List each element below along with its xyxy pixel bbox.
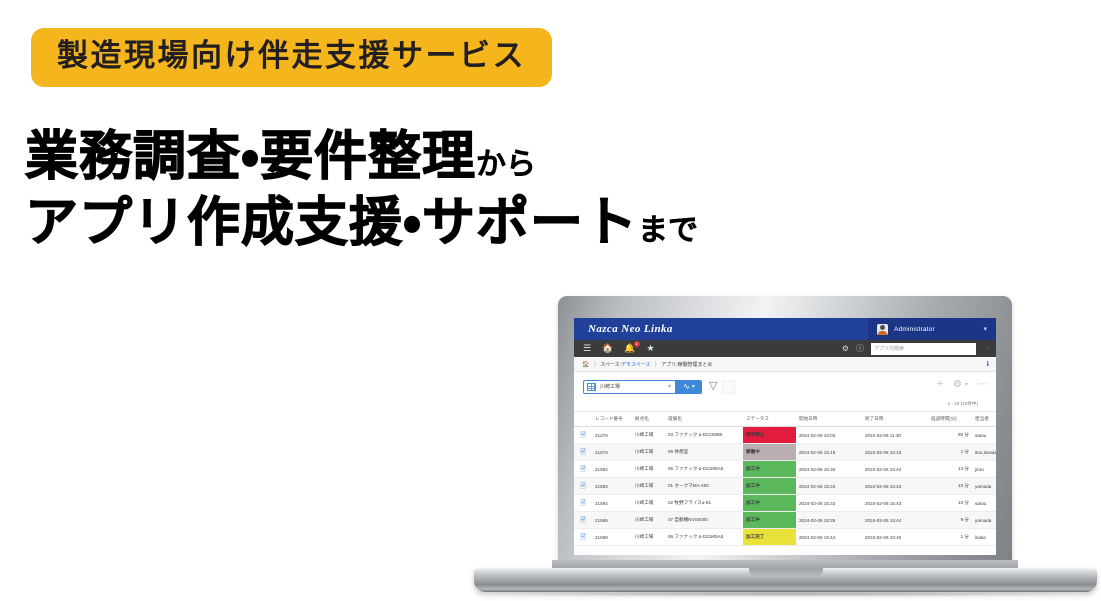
cell-owner: isaka bbox=[972, 529, 996, 546]
table-row[interactable]: 🗎21595川崎工場07 自動機NVS5000加工中2024-02-06 15:… bbox=[574, 512, 996, 529]
cell-start-datetime: 2024-02-06 15:44 bbox=[796, 529, 862, 546]
chevron-down-icon[interactable]: ▾ bbox=[692, 383, 695, 390]
document-icon[interactable]: 🗎 bbox=[574, 529, 592, 546]
breadcrumb-space-name[interactable]: デモスペース bbox=[621, 362, 650, 368]
status-badge: 異常停止 bbox=[743, 427, 796, 444]
ellipsis-icon[interactable]: ⋯ bbox=[978, 380, 989, 390]
status-badge: 加工中 bbox=[743, 512, 796, 529]
col-end-datetime[interactable]: 終了日時 bbox=[862, 412, 928, 427]
cell-equipment-name: 01 オークマMA-400 bbox=[665, 478, 743, 495]
record-pager: 1 - 10 (10件中) bbox=[574, 401, 996, 411]
table-row[interactable]: 🗎21596川崎工場06 ファナック α-D21M5A5加工完了2024-02-… bbox=[574, 529, 996, 546]
document-icon[interactable]: 🗎 bbox=[574, 478, 592, 495]
service-badge: 製造現場向け伴走支援サービス bbox=[31, 28, 552, 87]
chevron-down-icon[interactable]: ▾ bbox=[965, 381, 968, 388]
headline-line-1-suffix: から bbox=[476, 148, 536, 181]
toolbar-right-group: + ⚙ ▾ ⋯ bbox=[937, 379, 989, 390]
document-icon[interactable]: 🗎 bbox=[574, 495, 592, 512]
breadcrumb-app-name: 稼働管理まとめ bbox=[678, 362, 713, 368]
breadcrumb: 🏠 ⟩ スペース:デモスペース ⟩ アプリ:稼働管理まとめ ℹ bbox=[574, 357, 996, 372]
cell-owner: yamada bbox=[972, 512, 996, 529]
col-doc bbox=[574, 412, 592, 427]
cell-site-name: 川崎工場 bbox=[632, 478, 665, 495]
cell-end-datetime: 2024-02-06 15:43 bbox=[862, 495, 928, 512]
cell-equipment-name: 06 ファナック α-D21M5A5 bbox=[665, 529, 743, 546]
plus-icon[interactable]: + bbox=[937, 379, 943, 390]
status-badge: 稼働中 bbox=[743, 444, 796, 461]
headline-line-2: アプリ作成支援・サポートまで bbox=[25, 196, 698, 250]
cell-site-name: 川崎工場 bbox=[632, 427, 665, 444]
search-input[interactable]: アプリ内検索 bbox=[871, 343, 976, 355]
cell-equipment-name: 09 休憩室 bbox=[665, 444, 743, 461]
cell-end-datetime: 2024-02-06 11:30 bbox=[862, 427, 928, 444]
col-site-name[interactable]: 拠点名 bbox=[632, 412, 665, 427]
headline-line-1: 業務調査・要件整理から bbox=[25, 130, 698, 184]
status-badge: 加工完了 bbox=[743, 529, 796, 546]
table-row[interactable]: 🗎21594川崎工場02 牧野フライスa-81加工中2024-02-06 15:… bbox=[574, 495, 996, 512]
cell-elapsed-minutes: 9 分 bbox=[928, 512, 972, 529]
cell-elapsed-minutes: 1 分 bbox=[928, 529, 972, 546]
app-window: Nazca Neo Linka Administrator ▾ ☰ 🏠 🔔1 ★… bbox=[574, 318, 996, 555]
cell-equipment-name: 06 ファナック α-D21M5A5 bbox=[665, 461, 743, 478]
account-name: Administrator bbox=[894, 326, 935, 333]
cell-end-datetime: 2024-02-06 15:43 bbox=[862, 478, 928, 495]
document-icon[interactable]: 🗎 bbox=[574, 444, 592, 461]
cell-end-datetime: 2024-02-06 15:44 bbox=[862, 512, 928, 529]
gear-icon[interactable]: ⚙ bbox=[842, 344, 849, 353]
breadcrumb-space-label: スペース: bbox=[600, 362, 621, 368]
cell-start-datetime: 2024-02-06 15:15 bbox=[796, 444, 862, 461]
col-status[interactable]: ステータス bbox=[743, 412, 796, 427]
extra-toolbar-button[interactable] bbox=[722, 380, 735, 394]
status-badge: 加工中 bbox=[743, 478, 796, 495]
cell-site-name: 川崎工場 bbox=[632, 444, 665, 461]
view-selector[interactable]: 川崎工場 ▾ bbox=[583, 380, 676, 394]
breadcrumb-space[interactable]: スペース:デモスペース bbox=[600, 361, 650, 368]
breadcrumb-app-label: アプリ: bbox=[661, 362, 677, 368]
home-icon[interactable]: 🏠 bbox=[582, 361, 589, 368]
col-equipment-name[interactable]: 設備名 bbox=[665, 412, 743, 427]
cell-start-datetime: 2024-02-06 15:30 bbox=[796, 461, 862, 478]
laptop-lid: Nazca Neo Linka Administrator ▾ ☰ 🏠 🔔1 ★… bbox=[558, 296, 1012, 563]
cell-site-name: 川崎工場 bbox=[632, 461, 665, 478]
status-badge: 加工中 bbox=[743, 495, 796, 512]
cell-record-number: 21592 bbox=[592, 461, 632, 478]
cell-owner: satou bbox=[972, 427, 996, 444]
col-record-number[interactable]: レコード番号 bbox=[592, 412, 632, 427]
account-menu[interactable]: Administrator ▾ bbox=[868, 318, 996, 340]
cell-end-datetime: 2024-02-06 15:44 bbox=[862, 461, 928, 478]
cell-owner: satou bbox=[972, 495, 996, 512]
table-body: 🗎21276川崎工場03 ファナック α-D21S5B5異常停止2024-02-… bbox=[574, 427, 996, 546]
cell-equipment-name: 07 自動機NVS5000 bbox=[665, 512, 743, 529]
table-row[interactable]: 🗎21593川崎工場01 オークマMA-400加工中2024-02-06 15:… bbox=[574, 478, 996, 495]
headline-line-2-suffix: まで bbox=[638, 214, 698, 247]
cell-record-number: 21593 bbox=[592, 478, 632, 495]
cell-start-datetime: 2024-02-06 15:35 bbox=[796, 512, 862, 529]
chart-line-icon: ∿ bbox=[683, 383, 690, 391]
search-icon[interactable]: ⌕ bbox=[985, 343, 990, 354]
chevron-down-icon[interactable]: ▾ bbox=[668, 383, 671, 390]
table-header-row: レコード番号 拠点名 設備名 ステータス 開始日時 終了日時 経過時間[分] 担… bbox=[574, 412, 996, 427]
cell-record-number: 21595 bbox=[592, 512, 632, 529]
bell-icon[interactable]: 🔔1 bbox=[624, 344, 635, 353]
cell-start-datetime: 2024-02-06 15:33 bbox=[796, 495, 862, 512]
laptop-screen: Nazca Neo Linka Administrator ▾ ☰ 🏠 🔔1 ★… bbox=[574, 318, 996, 555]
document-icon[interactable]: 🗎 bbox=[574, 512, 592, 529]
cell-start-datetime: 2024-02-06 10:00 bbox=[796, 427, 862, 444]
table-row[interactable]: 🗎21592川崎工場06 ファナック α-D21M5A5加工中2024-02-0… bbox=[574, 461, 996, 478]
nav-right-group: ⚙ ⓘ アプリ内検索 ⌕ bbox=[842, 340, 996, 357]
page-title: 業務調査・要件整理から アプリ作成支援・サポートまで bbox=[25, 130, 698, 250]
cell-equipment-name: 02 牧野フライスa-81 bbox=[665, 495, 743, 512]
laptop-notch bbox=[749, 568, 823, 577]
hero-section: 製造現場向け伴走支援サービス 業務調査・要件整理から アプリ作成支援・サポートま… bbox=[0, 0, 1101, 300]
laptop-shadow bbox=[482, 591, 1089, 597]
cell-owner: itou,tanaka bbox=[972, 444, 996, 461]
funnel-filter-icon[interactable]: ▽ bbox=[709, 381, 717, 392]
cell-end-datetime: 2024-02-06 15:45 bbox=[862, 529, 928, 546]
col-start-datetime[interactable]: 開始日時 bbox=[796, 412, 862, 427]
breadcrumb-separator: ⟩ bbox=[593, 360, 596, 368]
app-nav-bar: ☰ 🏠 🔔1 ★ ⚙ ⓘ アプリ内検索 ⌕ bbox=[574, 340, 996, 357]
breadcrumb-app[interactable]: アプリ:稼働管理まとめ bbox=[661, 361, 712, 368]
star-icon[interactable]: ★ bbox=[647, 344, 655, 353]
chevron-down-icon[interactable]: ▾ bbox=[983, 325, 987, 333]
bell-badge-count: 1 bbox=[634, 341, 640, 347]
table-header: レコード番号 拠点名 設備名 ステータス 開始日時 終了日時 経過時間[分] 担… bbox=[574, 412, 996, 427]
headline-line-2-main: アプリ作成支援・サポート bbox=[25, 192, 638, 253]
cell-owner: jirou bbox=[972, 461, 996, 478]
table-row[interactable]: 🗎21276川崎工場03 ファナック α-D21S5B5異常停止2024-02-… bbox=[574, 427, 996, 444]
cell-elapsed-minutes: 90 分 bbox=[928, 427, 972, 444]
cell-record-number: 21570 bbox=[592, 444, 632, 461]
cell-site-name: 川崎工場 bbox=[632, 495, 665, 512]
col-owner[interactable]: 担当者 bbox=[972, 412, 996, 427]
cell-elapsed-minutes: 1 分 bbox=[928, 444, 972, 461]
records-table: レコード番号 拠点名 設備名 ステータス 開始日時 終了日時 経過時間[分] 担… bbox=[574, 411, 996, 546]
cell-elapsed-minutes: 10 分 bbox=[928, 495, 972, 512]
headline-line-1-main: 業務調査・要件整理 bbox=[25, 126, 476, 187]
app-brand-logo[interactable]: Nazca Neo Linka bbox=[574, 323, 673, 335]
cell-start-datetime: 2024-02-06 15:33 bbox=[796, 478, 862, 495]
help-icon[interactable]: ⓘ bbox=[856, 343, 864, 354]
table-row[interactable]: 🗎21570川崎工場09 休憩室稼働中2024-02-06 15:152024-… bbox=[574, 444, 996, 461]
cell-elapsed-minutes: 10 分 bbox=[928, 478, 972, 495]
cell-record-number: 21276 bbox=[592, 427, 632, 444]
cell-record-number: 21594 bbox=[592, 495, 632, 512]
search-placeholder: アプリ内検索 bbox=[874, 345, 904, 352]
document-icon[interactable]: 🗎 bbox=[574, 427, 592, 444]
cell-site-name: 川崎工場 bbox=[632, 529, 665, 546]
hamburger-icon[interactable]: ☰ bbox=[583, 344, 591, 353]
home-icon[interactable]: 🏠 bbox=[602, 344, 613, 353]
cell-record-number: 21596 bbox=[592, 529, 632, 546]
cell-end-datetime: 2024-02-06 15:16 bbox=[862, 444, 928, 461]
cell-equipment-name: 03 ファナック α-D21S5B5 bbox=[665, 427, 743, 444]
info-icon[interactable]: ℹ bbox=[986, 360, 989, 368]
user-avatar-icon bbox=[877, 324, 888, 335]
status-badge: 加工中 bbox=[743, 461, 796, 478]
view-selector-value: 川崎工場 bbox=[600, 383, 620, 390]
cell-site-name: 川崎工場 bbox=[632, 512, 665, 529]
grid-view-icon bbox=[587, 383, 596, 391]
breadcrumb-separator-2: ⟩ bbox=[654, 360, 657, 368]
col-elapsed-minutes[interactable]: 経過時間[分] bbox=[928, 412, 972, 427]
cell-elapsed-minutes: 14 分 bbox=[928, 461, 972, 478]
laptop-mockup: Nazca Neo Linka Administrator ▾ ☰ 🏠 🔔1 ★… bbox=[470, 288, 1101, 588]
app-header-bar: Nazca Neo Linka Administrator ▾ bbox=[574, 318, 996, 340]
cell-owner: yamada bbox=[972, 478, 996, 495]
view-toolbar: 川崎工場 ▾ ∿ ▾ ▽ + ⚙ ▾ ⋯ bbox=[574, 372, 996, 401]
document-icon[interactable]: 🗎 bbox=[574, 461, 592, 478]
gear-icon[interactable]: ⚙ bbox=[953, 380, 962, 390]
chart-toggle-button[interactable]: ∿ ▾ bbox=[676, 380, 702, 394]
